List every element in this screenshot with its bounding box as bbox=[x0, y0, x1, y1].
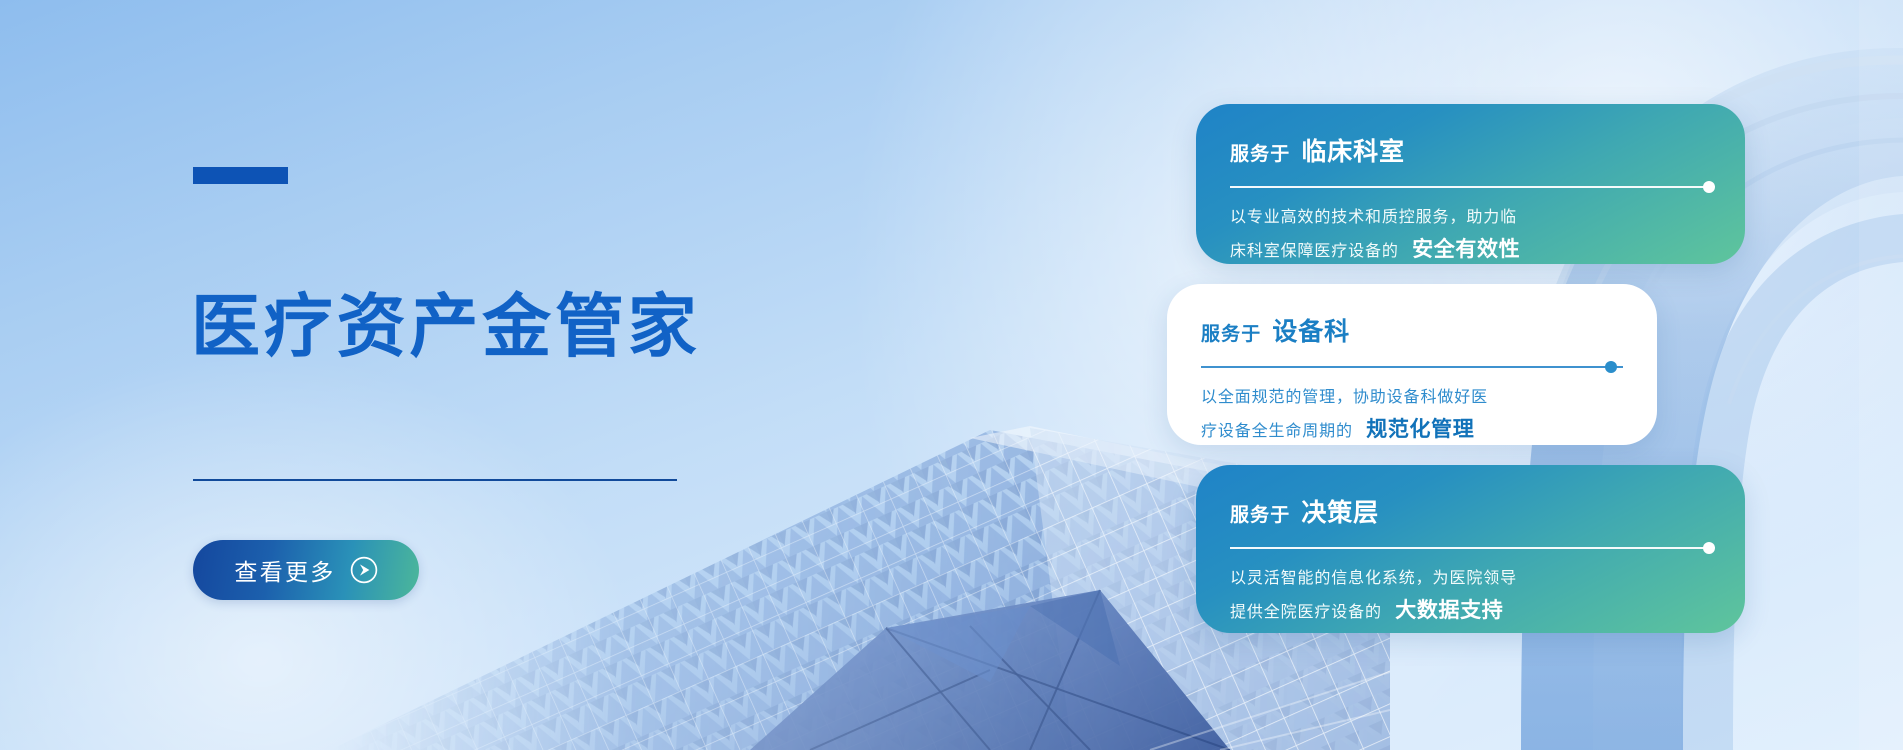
card-heading: 服务于 设备科 bbox=[1201, 312, 1623, 348]
service-card-equipment-department[interactable]: 服务于 设备科 以全面规范的管理，协助设备科做好医 疗设备全生命周期的 规范化管… bbox=[1167, 284, 1657, 445]
card-prefix: 服务于 bbox=[1201, 319, 1261, 346]
separator-line bbox=[1230, 547, 1711, 549]
card-body-line-2-text: 疗设备全生命周期的 bbox=[1201, 423, 1353, 440]
card-body-line-2-text: 床科室保障医疗设备的 bbox=[1230, 243, 1399, 260]
card-body-line-2-text: 提供全院医疗设备的 bbox=[1230, 604, 1382, 621]
card-body: 以全面规范的管理，协助设备科做好医 疗设备全生命周期的 规范化管理 bbox=[1201, 385, 1623, 447]
card-body-line-1: 以全面规范的管理，协助设备科做好医 bbox=[1201, 385, 1623, 412]
card-body: 以专业高效的技术和质控服务，助力临 床科室保障医疗设备的 安全有效性 bbox=[1230, 205, 1711, 267]
card-body: 以灵活智能的信息化系统，为医院领导 提供全院医疗设备的 大数据支持 bbox=[1230, 566, 1711, 628]
card-separator bbox=[1230, 542, 1711, 554]
card-keyword: 决策层 bbox=[1301, 493, 1379, 529]
card-body-line-1: 以专业高效的技术和质控服务，助力临 bbox=[1230, 205, 1711, 232]
card-separator bbox=[1230, 181, 1711, 193]
service-cards-group: 服务于 临床科室 以专业高效的技术和质控服务，助力临 床科室保障医疗设备的 安全… bbox=[0, 0, 1903, 750]
card-heading: 服务于 临床科室 bbox=[1230, 132, 1711, 168]
card-separator bbox=[1201, 361, 1623, 373]
card-body-line-1: 以灵活智能的信息化系统，为医院领导 bbox=[1230, 566, 1711, 593]
card-keyword: 临床科室 bbox=[1301, 132, 1405, 168]
card-prefix: 服务于 bbox=[1230, 139, 1290, 166]
separator-line bbox=[1201, 366, 1623, 368]
card-prefix: 服务于 bbox=[1230, 500, 1290, 527]
separator-dot-icon bbox=[1703, 181, 1715, 193]
card-body-line-2: 提供全院医疗设备的 大数据支持 bbox=[1230, 593, 1711, 628]
card-body-line-2: 床科室保障医疗设备的 安全有效性 bbox=[1230, 232, 1711, 267]
card-heading: 服务于 决策层 bbox=[1230, 493, 1711, 529]
service-card-clinical-department[interactable]: 服务于 临床科室 以专业高效的技术和质控服务，助力临 床科室保障医疗设备的 安全… bbox=[1196, 104, 1745, 264]
card-body-emphasis: 安全有效性 bbox=[1412, 238, 1520, 261]
card-keyword: 设备科 bbox=[1272, 312, 1350, 348]
card-body-emphasis: 大数据支持 bbox=[1395, 599, 1503, 622]
separator-dot-icon bbox=[1703, 542, 1715, 554]
separator-line bbox=[1230, 186, 1711, 188]
hero-banner: 医疗资产金管家 查看更多 服务于 临床科室 以专业高效的技术 bbox=[0, 0, 1903, 750]
service-card-decision-layer[interactable]: 服务于 决策层 以灵活智能的信息化系统，为医院领导 提供全院医疗设备的 大数据支… bbox=[1196, 465, 1745, 633]
card-body-emphasis: 规范化管理 bbox=[1366, 418, 1474, 441]
card-body-line-2: 疗设备全生命周期的 规范化管理 bbox=[1201, 412, 1623, 447]
separator-dot-icon bbox=[1605, 361, 1617, 373]
